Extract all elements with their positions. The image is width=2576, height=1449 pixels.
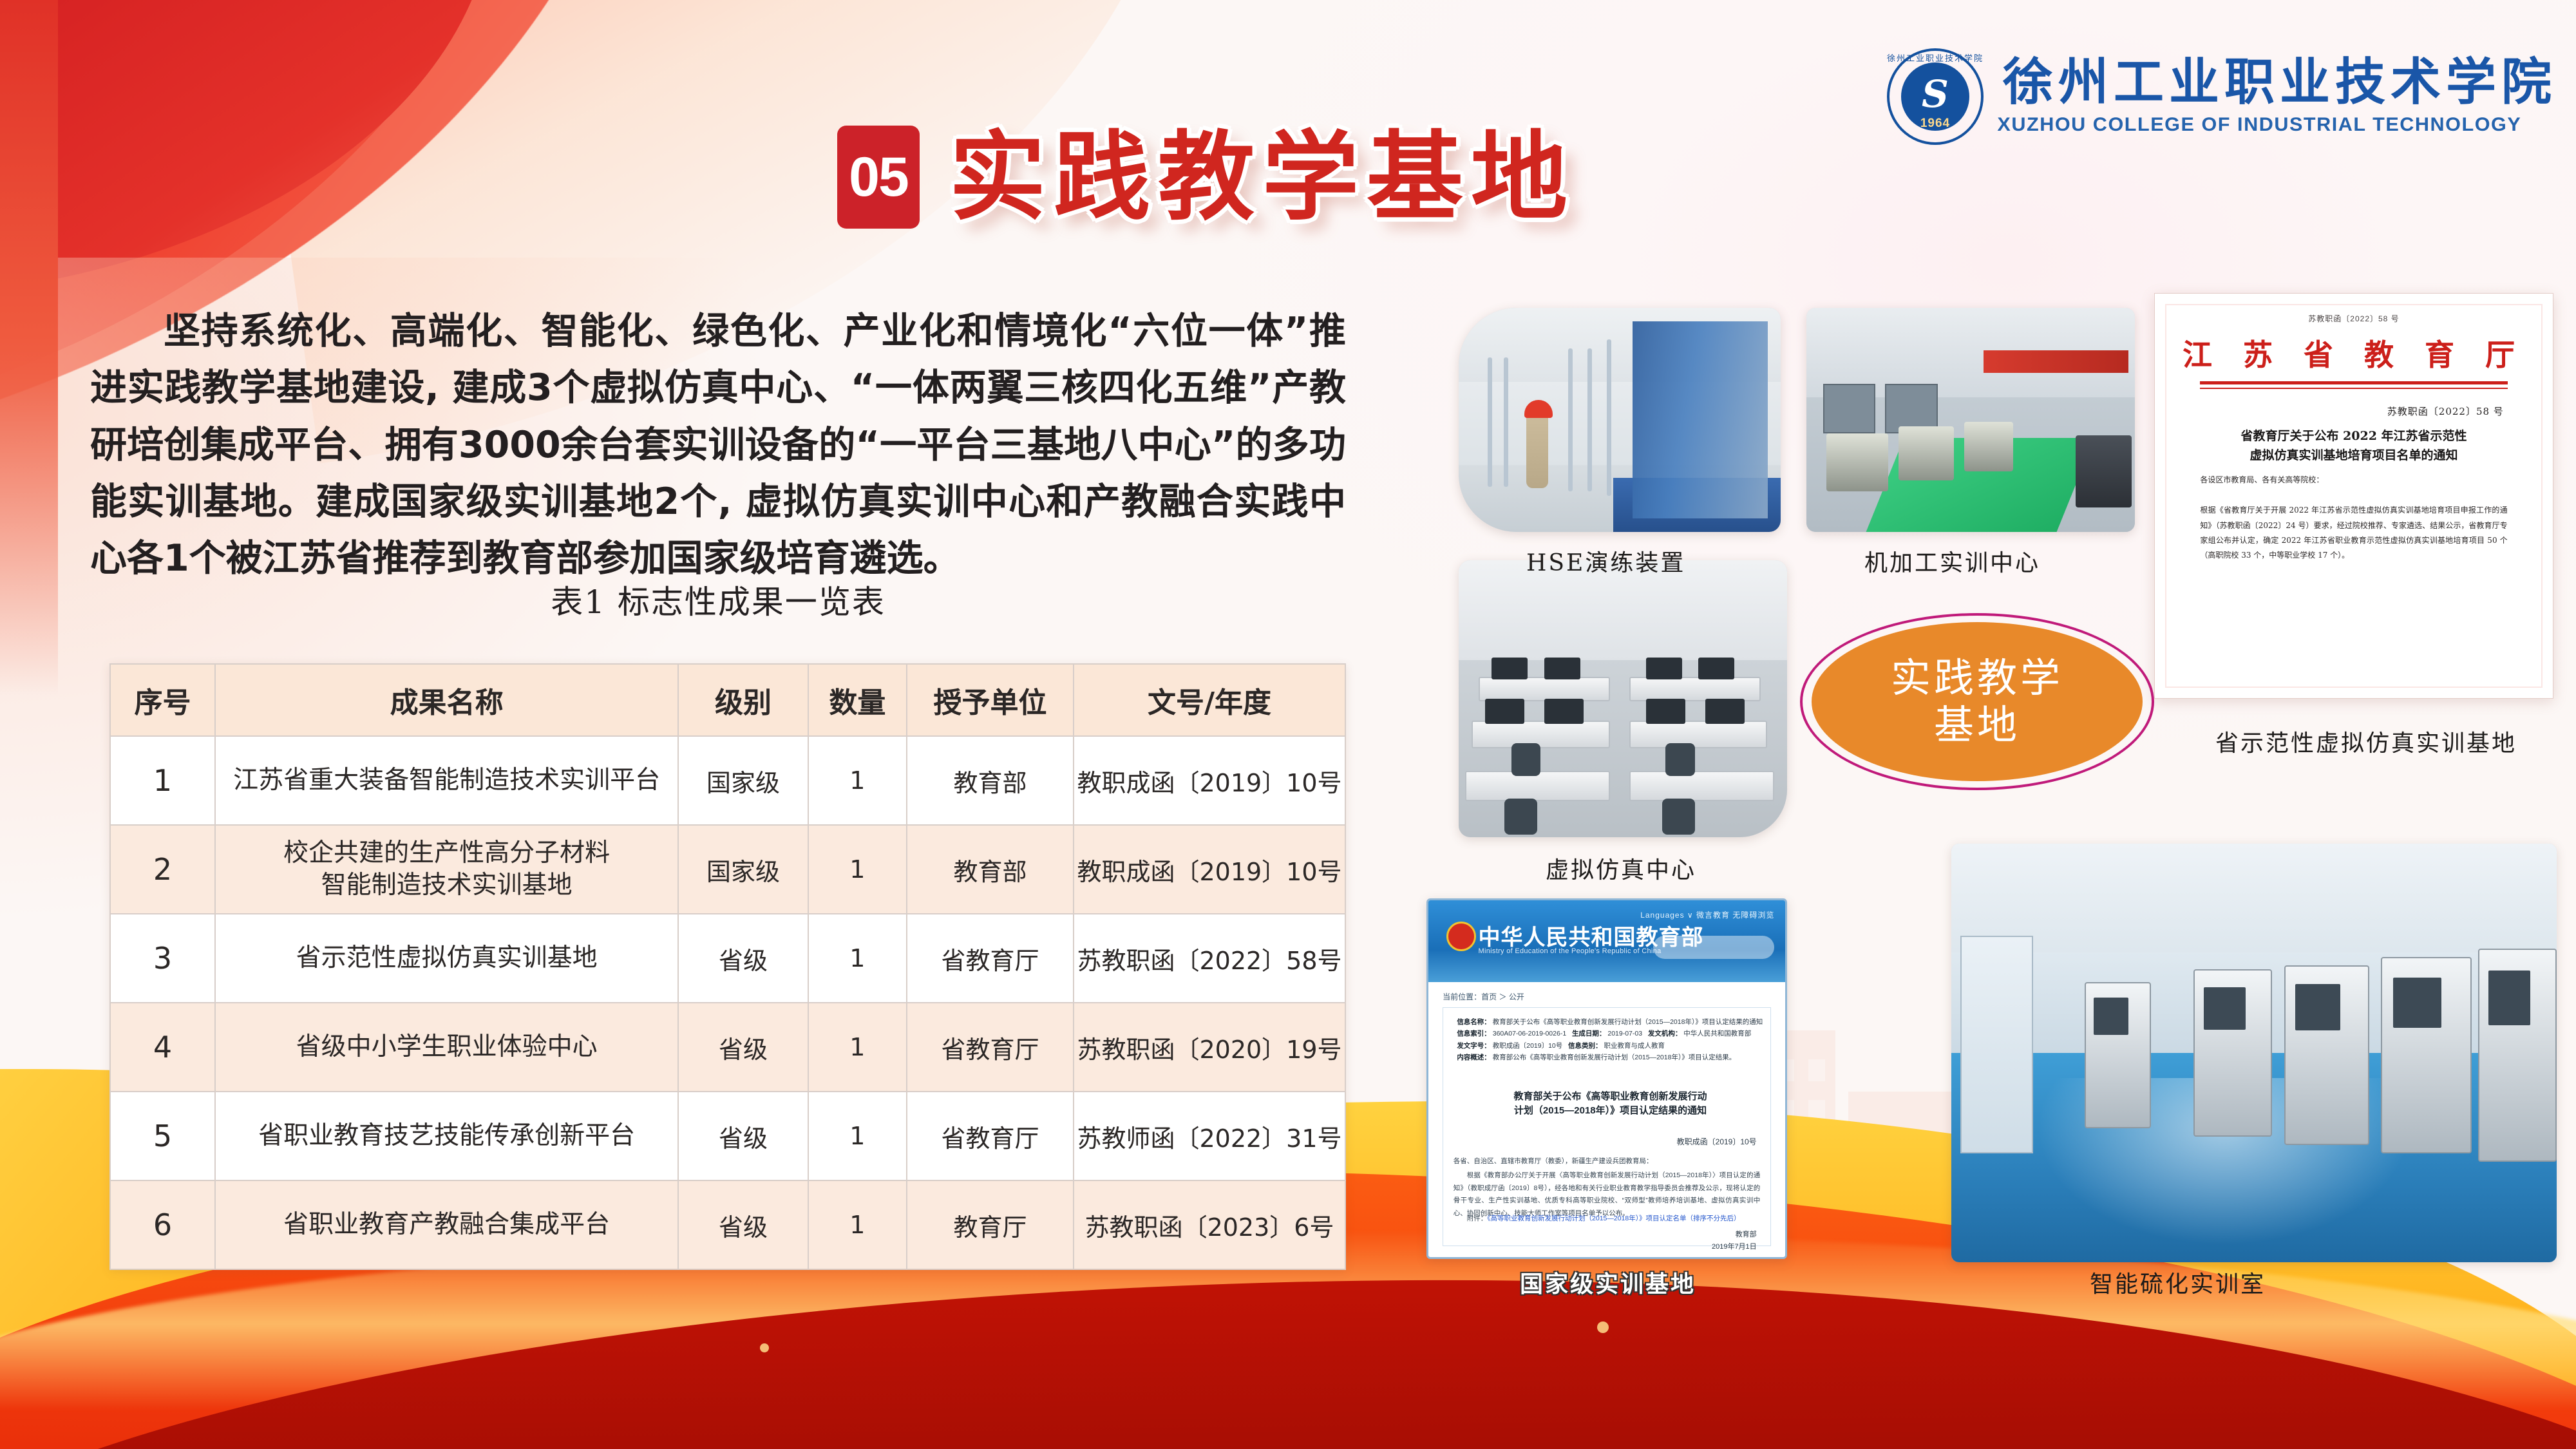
cell-qty: 1 <box>808 825 907 914</box>
table-caption: 表1 标志性成果一览表 <box>90 576 1346 623</box>
moe-search-input[interactable] <box>1653 936 1774 959</box>
moe-attachment-row: 附件：《高等职业教育创新发展行动计划（2015—2018年）》项目认定名单（排序… <box>1454 1213 1760 1225</box>
page-title: 实践教学基地 <box>949 129 1575 225</box>
js-doc-letterhead: 江 苏 省 教 育 厅 <box>2166 332 2541 374</box>
school-name-en: XUZHOU COLLEGE OF INDUSTRIAL TECHNOLOGY <box>1997 114 2562 136</box>
table-row: 6 省职业教育产教融合集成平台 省级 1 教育厅 苏教职函〔2023〕6号 <box>110 1180 1345 1269</box>
caption-machining: 机加工实训中心 <box>1864 544 2040 578</box>
cell-unit: 教育部 <box>907 736 1074 825</box>
photo-smart-vulcanization-lab <box>1951 844 2557 1262</box>
badge-line-2: 基地 <box>1934 703 2020 747</box>
moe-signer: 教育部 <box>1736 1229 1757 1239</box>
moe-meta-docno-value: 教职成函〔2019〕10号 <box>1493 1042 1563 1050</box>
moe-doc-title: 教育部关于公布《高等职业教育创新发展行动 计划（2015—2018年）》项目认定… <box>1471 1090 1749 1119</box>
cell-qty: 1 <box>808 1092 907 1180</box>
js-doc-rule-thin <box>2200 388 2507 389</box>
cell-index: 5 <box>110 1092 215 1180</box>
school-name-cn: 徐州工业职业技术学院 <box>2003 57 2557 108</box>
caption-national-base: 国家级实训基地 <box>1520 1265 1696 1299</box>
cell-unit: 省教育厅 <box>907 1003 1074 1092</box>
cell-index: 6 <box>110 1180 215 1269</box>
cell-doc: 苏教职函〔2020〕19号 <box>1074 1003 1345 1092</box>
photo-machining-center <box>1806 308 2135 532</box>
seal-monogram: S <box>1922 72 1949 116</box>
cell-index: 4 <box>110 1003 215 1092</box>
moe-attachment-label: 附件： <box>1467 1215 1488 1222</box>
achievements-table-body: 1 江苏省重大装备智能制造技术实训平台 国家级 1 教育部 教职成函〔2019〕… <box>110 736 1345 1269</box>
section-number-badge: 05 <box>837 126 920 229</box>
cell-level: 省级 <box>678 1180 808 1269</box>
cell-name: 省示范性虚拟仿真实训基地 <box>215 914 678 1003</box>
cell-doc: 教职成函〔2019〕10号 <box>1074 825 1345 914</box>
moe-sign-date: 2019年7月1日 <box>1712 1241 1757 1251</box>
cell-unit: 省教育厅 <box>907 914 1074 1003</box>
table-row: 1 江苏省重大装备智能制造技术实训平台 国家级 1 教育部 教职成函〔2019〕… <box>110 736 1345 825</box>
moe-meta-org-value: 中华人民共和国教育部 <box>1683 1030 1751 1037</box>
moe-topnav: Languages ∨ 微言教育 无障碍浏览 <box>1640 909 1774 920</box>
badge-line-1: 实践教学 <box>1891 656 2063 700</box>
spark-dot <box>760 1343 769 1352</box>
js-doc-inner-frame: 苏教职函〔2022〕58 号 江 苏 省 教 育 厅 苏教职函〔2022〕58 … <box>2165 304 2543 688</box>
cell-level: 国家级 <box>678 736 808 825</box>
moe-meta-type-value: 职业教育与成人教育 <box>1604 1042 1665 1050</box>
spark-dot <box>1597 1321 1609 1333</box>
moe-attachment-link[interactable]: 《高等职业教育创新发展行动计划（2015—2018年）》项目认定名单（排序不分先… <box>1487 1215 1740 1222</box>
school-logo: 徐州工业职业技术学院 S 1964 徐州工业职业技术学院 XUZHOU COLL… <box>1887 48 2557 145</box>
photo-hse-training-device <box>1459 308 1781 532</box>
cell-name: 校企共建的生产性高分子材料 智能制造技术实训基地 <box>215 825 678 914</box>
cell-unit: 教育部 <box>907 825 1074 914</box>
cell-index: 3 <box>110 914 215 1003</box>
moe-meta-name-label: 信息名称： <box>1457 1018 1491 1026</box>
moe-meta-block: 信息名称： 教育部关于公布《高等职业教育创新发展行动计划（2015—2018年）… <box>1457 1016 1767 1064</box>
moe-meta-summary-value: 教育部公布《高等职业教育创新发展行动计划（2015—2018年）》项目认定结果。 <box>1493 1054 1736 1061</box>
cell-doc: 苏教职函〔2023〕6号 <box>1074 1180 1345 1269</box>
column-header-qty: 数量 <box>808 664 907 736</box>
moe-breadcrumb: 当前位置：首页 ＞ 公开 <box>1443 991 1524 1002</box>
js-doc-body: 各设区市教育局、各有关高等院校： 根据《省教育厅关于开展 2022 年江苏省示范… <box>2200 473 2507 563</box>
moe-doc-number: 教职成函〔2019〕10号 <box>1677 1136 1757 1147</box>
table-row: 4 省级中小学生职业体验中心 省级 1 省教育厅 苏教职函〔2020〕19号 <box>110 1003 1345 1092</box>
cell-index: 1 <box>110 736 215 825</box>
table-row: 2 校企共建的生产性高分子材料 智能制造技术实训基地 国家级 1 教育部 教职成… <box>110 825 1345 914</box>
js-doc-rule-thick <box>2200 381 2507 384</box>
cell-level: 省级 <box>678 914 808 1003</box>
js-doc-top-note: 苏教职函〔2022〕58 号 <box>2166 313 2541 324</box>
body-paragraph: 坚持系统化、高端化、智能化、绿色化、产业化和情境化“六位一体”推进实践教学基地建… <box>90 303 1346 587</box>
moe-addressee: 各省、自治区、直辖市教育厅（教委），新疆生产建设兵团教育局： <box>1454 1155 1760 1168</box>
cell-name: 省职业教育技艺技能传承创新平台 <box>215 1092 678 1180</box>
moe-meta-index-value: 360A07-06-2019-0026-1 <box>1493 1030 1566 1037</box>
section-title-row: 05 实践教学基地 <box>837 126 1575 229</box>
moe-meta-type-label: 信息类别： <box>1568 1042 1602 1050</box>
moe-meta-org-label: 发文机构： <box>1648 1030 1682 1037</box>
cell-qty: 1 <box>808 914 907 1003</box>
seal-year: 1964 <box>1920 117 1950 131</box>
moe-meta-index-label: 信息索引： <box>1457 1030 1491 1037</box>
caption-vulcanization: 智能硫化实训室 <box>2090 1265 2266 1299</box>
cell-doc: 教职成函〔2019〕10号 <box>1074 736 1345 825</box>
moe-meta-name-value: 教育部关于公布《高等职业教育创新发展行动计划（2015—2018年）》项目认定结… <box>1493 1018 1763 1026</box>
column-header-index: 序号 <box>110 664 215 736</box>
cell-unit: 省教育厅 <box>907 1092 1074 1180</box>
moe-brand-en: Ministry of Education of the People's Re… <box>1479 947 1662 955</box>
badge-fill: 实践教学 基地 <box>1812 622 2143 781</box>
cell-level: 省级 <box>678 1092 808 1180</box>
cell-level: 国家级 <box>678 825 808 914</box>
caption-province-base: 省示范性虚拟仿真实训基地 <box>2215 724 2517 758</box>
achievements-table-wrapper: 序号 成果名称 级别 数量 授予单位 文号/年度 1 江苏省重大装备智能制造技术… <box>109 663 1346 1270</box>
practice-teaching-base-badge: 实践教学 基地 <box>1800 613 2154 790</box>
school-seal-icon: 徐州工业职业技术学院 S 1964 <box>1887 48 1984 145</box>
column-header-name: 成果名称 <box>215 664 678 736</box>
cell-qty: 1 <box>808 736 907 825</box>
column-header-level: 级别 <box>678 664 808 736</box>
cell-doc: 苏教师函〔2022〕31号 <box>1074 1092 1345 1180</box>
caption-virtual: 虚拟仿真中心 <box>1546 851 1696 885</box>
photo-moe-notice-webpage: 中华人民共和国教育部 Ministry of Education of the … <box>1426 898 1787 1259</box>
table-row: 3 省示范性虚拟仿真实训基地 省级 1 省教育厅 苏教职函〔2022〕58号 <box>110 914 1345 1003</box>
js-doc-title: 省教育厅关于公布 2022 年江苏省示范性 虚拟仿真实训基地培育项目名单的通知 <box>2200 427 2507 465</box>
moe-meta-created-label: 生成日期： <box>1572 1030 1606 1037</box>
photo-virtual-simulation-center <box>1459 560 1787 837</box>
national-emblem-icon <box>1446 922 1476 951</box>
moe-meta-docno-label: 发文字号： <box>1457 1042 1491 1050</box>
moe-meta-summary-label: 内容概述： <box>1457 1054 1491 1061</box>
table-row: 5 省职业教育技艺技能传承创新平台 省级 1 省教育厅 苏教师函〔2022〕31… <box>110 1092 1345 1180</box>
column-header-doc: 文号/年度 <box>1074 664 1345 736</box>
column-header-unit: 授予单位 <box>907 664 1074 736</box>
cell-index: 2 <box>110 825 215 914</box>
cell-qty: 1 <box>808 1003 907 1092</box>
cell-unit: 教育厅 <box>907 1180 1074 1269</box>
photo-jiangsu-education-dept-document: 苏教职函〔2022〕58 号 江 苏 省 教 育 厅 苏教职函〔2022〕58 … <box>2154 293 2553 699</box>
moe-meta-created-value: 2019-07-03 <box>1607 1030 1642 1037</box>
cell-qty: 1 <box>808 1180 907 1269</box>
js-doc-number: 苏教职函〔2022〕58 号 <box>2387 404 2504 418</box>
cell-name: 省职业教育产教融合集成平台 <box>215 1180 678 1269</box>
caption-hse: HSE演练装置 <box>1526 544 1685 578</box>
table-header-row: 序号 成果名称 级别 数量 授予单位 文号/年度 <box>110 664 1345 736</box>
cell-doc: 苏教职函〔2022〕58号 <box>1074 914 1345 1003</box>
cell-name: 省级中小学生职业体验中心 <box>215 1003 678 1092</box>
background-left-edge-strip <box>0 0 58 696</box>
cell-level: 省级 <box>678 1003 808 1092</box>
achievements-table: 序号 成果名称 级别 数量 授予单位 文号/年度 1 江苏省重大装备智能制造技术… <box>109 663 1346 1270</box>
cell-name: 江苏省重大装备智能制造技术实训平台 <box>215 736 678 825</box>
